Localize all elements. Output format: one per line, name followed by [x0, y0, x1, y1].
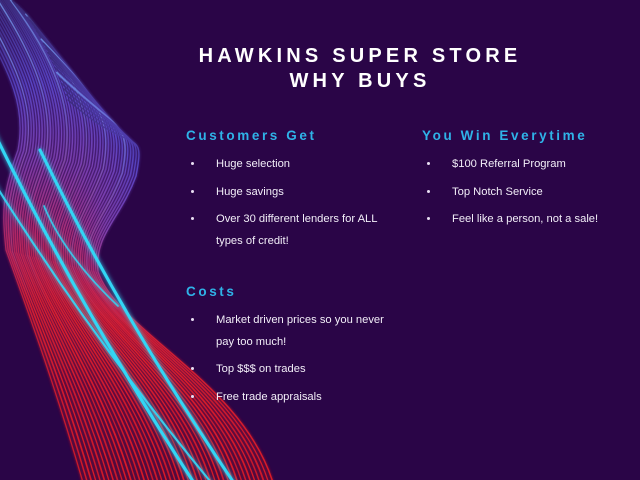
section-heading-customers-get: Customers Get	[186, 128, 391, 143]
section-customers-get: Customers Get Huge selection Huge saving…	[186, 128, 391, 258]
list-item: Market driven prices so you never pay to…	[186, 310, 391, 353]
bullet-dot-icon	[427, 162, 430, 165]
list-item: Top Notch Service	[422, 182, 622, 204]
bullet-text: $100 Referral Program	[452, 154, 622, 176]
bullet-text: Huge savings	[216, 182, 391, 204]
slide-title: HAWKINS SUPER STORE WHY BUYS	[160, 44, 560, 94]
list-item: Top $$$ on trades	[186, 359, 391, 381]
bullet-list-customers-get: Huge selection Huge savings Over 30 diff…	[186, 154, 391, 252]
list-item: Huge selection	[186, 154, 391, 176]
bullet-dot-icon	[191, 395, 194, 398]
bullet-dot-icon	[427, 190, 430, 193]
bullet-dot-icon	[191, 190, 194, 193]
bullet-text: Market driven prices so you never pay to…	[216, 310, 391, 353]
bullet-text: Feel like a person, not a sale!	[452, 209, 622, 231]
list-item: Over 30 different lenders for ALL types …	[186, 209, 391, 252]
list-item: Huge savings	[186, 182, 391, 204]
title-line-2: WHY BUYS	[160, 69, 560, 94]
bullet-dot-icon	[191, 318, 194, 321]
section-heading-costs: Costs	[186, 284, 391, 299]
bullet-list-costs: Market driven prices so you never pay to…	[186, 310, 391, 408]
bullet-list-you-win-everytime: $100 Referral Program Top Notch Service …	[422, 154, 622, 231]
title-line-1: HAWKINS SUPER STORE	[160, 44, 560, 69]
bullet-dot-icon	[427, 217, 430, 220]
section-you-win-everytime: You Win Everytime $100 Referral Program …	[422, 128, 622, 237]
bullet-text: Top $$$ on trades	[216, 359, 391, 381]
bullet-dot-icon	[191, 367, 194, 370]
list-item: $100 Referral Program	[422, 154, 622, 176]
bullet-text: Huge selection	[216, 154, 391, 176]
bullet-dot-icon	[191, 162, 194, 165]
list-item: Feel like a person, not a sale!	[422, 209, 622, 231]
section-costs: Costs Market driven prices so you never …	[186, 284, 391, 414]
bullet-text: Free trade appraisals	[216, 387, 391, 409]
bullet-dot-icon	[191, 217, 194, 220]
presentation-slide: HAWKINS SUPER STORE WHY BUYS Customers G…	[0, 0, 640, 480]
section-heading-you-win-everytime: You Win Everytime	[422, 128, 622, 143]
bullet-text: Over 30 different lenders for ALL types …	[216, 209, 391, 252]
list-item: Free trade appraisals	[186, 387, 391, 409]
bullet-text: Top Notch Service	[452, 182, 622, 204]
